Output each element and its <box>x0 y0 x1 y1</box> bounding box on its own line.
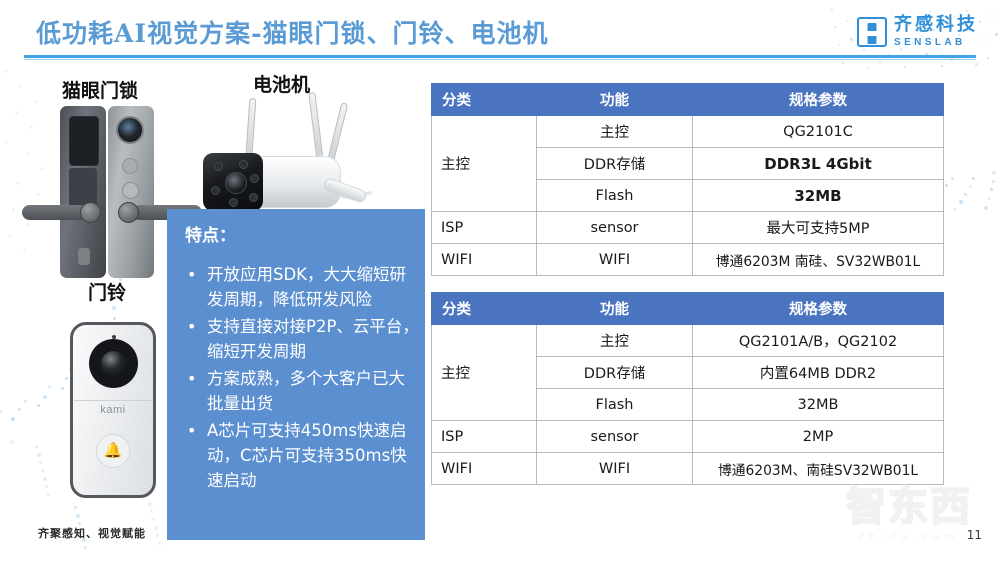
decor-dot <box>995 33 998 36</box>
doorbell-seam <box>74 400 152 401</box>
decor-dot <box>150 510 153 513</box>
decor-dot <box>992 180 995 183</box>
row-category: 主控 <box>432 116 537 212</box>
lock-keyhole <box>78 248 90 265</box>
row-category: ISP <box>432 421 537 453</box>
row-category: ISP <box>432 212 537 244</box>
decor-dot <box>37 453 41 457</box>
decor-dot <box>966 10 968 12</box>
decor-dot <box>43 477 47 481</box>
decor-dot <box>148 502 152 506</box>
decor-dot <box>972 177 975 180</box>
feature-item-label: 支持直接对接P2P、云平台，缩短开发周期 <box>207 317 419 361</box>
decor-dot <box>879 61 881 63</box>
column-header: 规格参数 <box>693 84 944 116</box>
table-row: WIFIWIFI博通6203M 南硅、SV32WB01L <box>432 244 944 276</box>
decor-dot <box>984 206 988 210</box>
title-divider <box>24 55 976 58</box>
decor-dot <box>61 387 64 390</box>
row-function: DDR存储 <box>537 148 693 180</box>
table-row: 主控主控QG2101C <box>432 116 944 148</box>
feature-item: •支持直接对接P2P、云平台，缩短开发周期 <box>173 314 421 364</box>
decor-dot <box>84 546 87 549</box>
decor-dot <box>959 200 963 204</box>
row-spec: 最大可支持5MP <box>693 212 944 244</box>
decor-dot <box>16 182 19 185</box>
watermark-url: zhidx.com <box>858 530 959 543</box>
page-title: 低功耗AI视觉方案-猫眼门锁、门铃、电池机 <box>36 14 548 50</box>
row-function: 主控 <box>537 116 693 148</box>
row-spec: QG2101C <box>693 116 944 148</box>
decor-dot <box>838 44 840 46</box>
decor-dot <box>48 385 51 388</box>
doorbell-brand-label: kami <box>70 404 156 416</box>
decor-dot <box>47 493 50 496</box>
spec-table-1: 分类功能规格参数 主控主控QG2101CDDR存储DDR3L 4GbitFlas… <box>431 83 944 276</box>
logo-text-block: 齐感科技 SENSLAB <box>894 16 978 48</box>
row-spec: QG2101A/B，QG2102 <box>693 325 944 357</box>
doorbell-camera-icon <box>101 351 126 376</box>
row-spec: 博通6203M 南硅、SV32WB01L <box>693 244 944 276</box>
ir-led-6 <box>211 186 220 195</box>
row-category: WIFI <box>432 453 537 485</box>
ir-led-2 <box>239 160 248 169</box>
watermark: 智东西 zhidx.com <box>846 487 972 543</box>
decor-dot <box>0 410 2 413</box>
row-function: Flash <box>537 389 693 421</box>
table-header-row: 分类功能规格参数 <box>432 293 944 325</box>
decor-dot <box>37 404 40 407</box>
footer-tagline: 齐聚感知、视觉赋能 <box>38 525 146 541</box>
decor-dot <box>15 111 18 114</box>
row-spec: 博通6203M、南硅SV32WB01L <box>693 453 944 485</box>
decor-dot <box>10 440 14 444</box>
decor-dot <box>5 141 8 144</box>
spec-table-2-body: 主控主控QG2101A/B，QG2102DDR存储内置64MB DDR2Flas… <box>432 325 944 485</box>
decor-dot <box>846 20 848 22</box>
decor-dot <box>983 39 985 41</box>
decor-dot <box>8 234 11 237</box>
decor-dot <box>154 526 158 530</box>
decor-dot <box>12 208 15 211</box>
decor-dot <box>962 52 964 54</box>
bullet-icon: • <box>187 366 196 391</box>
decor-dot <box>39 461 42 464</box>
decor-dot <box>979 21 981 23</box>
decor-dot <box>988 197 991 200</box>
decor-dot <box>65 377 68 380</box>
table-row: ISPsensor最大可支持5MP <box>432 212 944 244</box>
slide-canvas: 低功耗AI视觉方案-猫眼门锁、门铃、电池机 齐感科技 SENSLAB 猫眼门锁 … <box>0 0 1000 561</box>
feature-item: •方案成熟，多个大客户已大批量出货 <box>173 366 421 416</box>
bullet-icon: • <box>187 262 196 287</box>
doorbell-ring-button: 🔔 <box>96 434 130 468</box>
ir-led-5 <box>229 198 238 207</box>
decor-dot <box>945 184 948 187</box>
ir-led-1 <box>214 162 223 171</box>
table-row: ISPsensor2MP <box>432 421 944 453</box>
lock-camera-icon <box>116 116 144 144</box>
decor-dot <box>152 518 155 521</box>
bullet-icon: • <box>187 418 196 443</box>
decor-dot <box>990 188 993 191</box>
feature-item: •A芯片可支持450ms快速启动，C芯片可支持350ms快速启动 <box>173 418 421 493</box>
decor-dot <box>969 185 972 188</box>
decor-dot <box>112 306 116 310</box>
row-spec: 32MB <box>693 389 944 421</box>
decor-dot <box>113 317 116 320</box>
row-function: Flash <box>537 180 693 212</box>
ir-led-4 <box>249 193 258 202</box>
decor-dot <box>18 408 21 411</box>
decor-dot <box>941 65 943 67</box>
decor-dot <box>24 400 27 403</box>
table-row: 主控主控QG2101A/B，QG2102 <box>432 325 944 357</box>
decor-dot <box>992 171 996 175</box>
spec-table-1-head: 分类功能规格参数 <box>432 84 944 116</box>
column-header: 规格参数 <box>693 293 944 325</box>
row-function: 主控 <box>537 325 693 357</box>
bell-icon: 🔔 <box>104 443 123 458</box>
decor-dot <box>900 48 903 51</box>
feature-item-label: 方案成熟，多个大客户已大批量出货 <box>207 369 405 413</box>
decor-dot <box>867 67 869 69</box>
decor-dot <box>850 38 853 41</box>
decor-dot <box>834 26 836 28</box>
table-header-row: 分类功能规格参数 <box>432 84 944 116</box>
page-number: 11 <box>967 528 982 542</box>
decor-dot <box>41 469 44 472</box>
spec-table-1-body: 主控主控QG2101CDDR存储DDR3L 4GbitFlash32MBISPs… <box>432 116 944 276</box>
decor-dot <box>987 57 989 59</box>
decor-dot <box>76 514 80 518</box>
decor-dot <box>951 177 954 180</box>
doorbell-microphone-icon <box>112 335 116 339</box>
decor-dot <box>11 417 15 421</box>
lock-power-button <box>122 182 139 199</box>
row-spec: 32MB <box>693 180 944 212</box>
decor-dot <box>19 85 22 88</box>
decor-dot <box>904 66 906 68</box>
watermark-chinese: 智东西 <box>846 487 972 527</box>
logo-english-name: SENSLAB <box>894 38 978 48</box>
row-function: DDR存储 <box>537 357 693 389</box>
decor-dot <box>34 100 37 103</box>
decor-dot <box>830 8 833 11</box>
lock-button <box>122 158 138 174</box>
column-header: 功能 <box>537 293 693 325</box>
row-spec: 2MP <box>693 421 944 453</box>
company-logo: 齐感科技 SENSLAB <box>857 16 978 48</box>
ir-led-3 <box>250 174 259 183</box>
lock-knob-right <box>118 202 139 223</box>
decor-dot <box>158 542 161 545</box>
bullet-icon: • <box>187 314 196 339</box>
features-panel: 特点： •开放应用SDK，大大缩短研发周期，降低研发风险•支持直接对接P2P、云… <box>167 209 425 540</box>
doorbell-image: kami 🔔 <box>70 322 156 498</box>
decor-dot <box>35 445 38 448</box>
camera-lens-icon <box>225 172 247 194</box>
feature-item-label: A芯片可支持450ms快速启动，C芯片可支持350ms快速启动 <box>207 421 407 490</box>
decor-dot <box>842 62 844 64</box>
row-spec: DDR3L 4Gbit <box>693 148 944 180</box>
column-header: 分类 <box>432 293 537 325</box>
lock-knob-left <box>80 202 101 223</box>
spec-table-2: 分类功能规格参数 主控主控QG2101A/B，QG2102DDR存储内置64MB… <box>431 292 944 485</box>
decor-dot <box>45 485 48 488</box>
decor-dot <box>964 193 967 196</box>
decor-dot <box>74 506 77 509</box>
lock-handle-left <box>22 205 88 220</box>
features-title: 特点： <box>185 221 236 246</box>
feature-item: •开放应用SDK，大大缩短研发周期，降低研发风险 <box>173 262 421 312</box>
row-category: 主控 <box>432 325 537 421</box>
feature-item-label: 开放应用SDK，大大缩短研发周期，降低研发风险 <box>207 265 406 309</box>
battery-camera-image <box>205 92 400 220</box>
chip-logo-icon <box>857 17 887 47</box>
decor-dot <box>991 15 993 17</box>
lock-screen <box>69 116 99 166</box>
decor-dot <box>43 395 47 399</box>
door-lock-label: 猫眼门锁 <box>62 76 138 103</box>
logo-chinese-name: 齐感科技 <box>894 16 978 34</box>
table-row: WIFIWIFI博通6203M、南硅SV32WB01L <box>432 453 944 485</box>
features-list: •开放应用SDK，大大缩短研发周期，降低研发风险•支持直接对接P2P、云平台，缩… <box>173 262 421 495</box>
column-header: 分类 <box>432 84 537 116</box>
row-function: WIFI <box>537 453 693 485</box>
decor-dot <box>863 49 865 51</box>
row-spec: 内置64MB DDR2 <box>693 357 944 389</box>
title-divider-secondary <box>24 59 976 60</box>
spec-table-2-head: 分类功能规格参数 <box>432 293 944 325</box>
row-function: sensor <box>537 212 693 244</box>
row-function: WIFI <box>537 244 693 276</box>
decor-dot <box>4 70 7 73</box>
row-category: WIFI <box>432 244 537 276</box>
decor-dot <box>156 534 159 537</box>
row-function: sensor <box>537 421 693 453</box>
column-header: 功能 <box>537 84 693 116</box>
decor-dot <box>975 63 978 66</box>
decor-dot <box>953 208 956 211</box>
decor-dot <box>929 11 931 13</box>
